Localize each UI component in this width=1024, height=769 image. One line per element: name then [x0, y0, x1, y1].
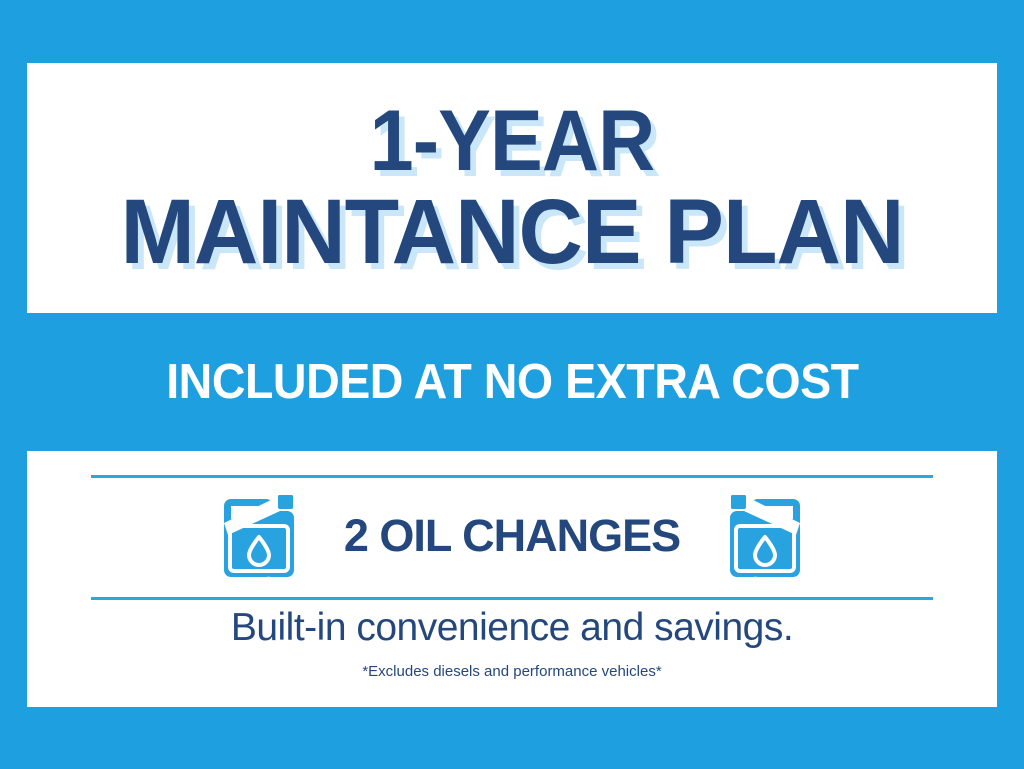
headline-card: 1-YEAR MAINTANCE PLAN — [27, 63, 997, 313]
benefit-row: 2 OIL CHANGES — [91, 475, 933, 597]
oil-can-icon — [220, 493, 298, 579]
headline-line-primary: 1-YEAR — [66, 99, 958, 183]
subtitle-text: INCLUDED AT NO EXTRA COST — [166, 354, 858, 410]
benefit-label: 2 OIL CHANGES — [344, 510, 680, 562]
disclaimer-text: *Excludes diesels and performance vehicl… — [27, 663, 997, 680]
subtitle-band: INCLUDED AT NO EXTRA COST — [0, 313, 1024, 451]
divider-rule-bottom — [91, 597, 933, 600]
headline-stack: 1-YEAR MAINTANCE PLAN — [27, 99, 997, 277]
oil-can-icon — [726, 493, 804, 579]
benefit-card: 2 OIL CHANGES Built-in convenience and s… — [27, 451, 997, 707]
tagline-text: Built-in convenience and savings. — [27, 606, 997, 650]
promo-poster: 1-YEAR MAINTANCE PLAN INCLUDED AT NO EXT… — [0, 0, 1024, 769]
headline-line-secondary: MAINTANCE PLAN — [42, 187, 983, 277]
